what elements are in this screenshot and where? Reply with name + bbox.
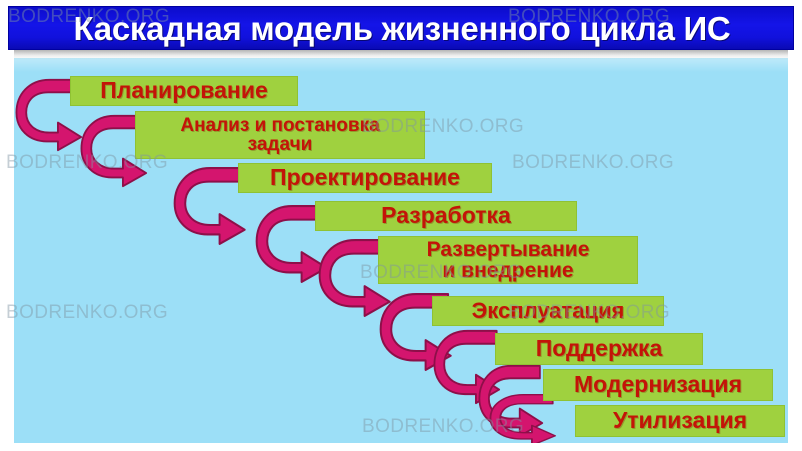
stage-box[interactable]: Разработка (315, 201, 577, 231)
stage-box[interactable]: Развертывание и внедрение (378, 236, 638, 284)
slide-canvas: Каскадная модель жизненного цикла ИС Пла… (0, 0, 802, 451)
stage-label: Развертывание и внедрение (427, 239, 590, 282)
stage-label: Модернизация (574, 373, 742, 396)
stage-label: Проектирование (270, 166, 460, 189)
stage-box[interactable]: Утилизация (575, 405, 785, 437)
stage-box[interactable]: Анализ и постановка задачи (135, 111, 425, 159)
stage-label: Анализ и постановка задачи (180, 116, 379, 155)
page-title: Каскадная модель жизненного цикла ИС (9, 7, 795, 51)
stage-label: Утилизация (613, 409, 747, 432)
stage-box[interactable]: Эксплуатация (432, 296, 664, 326)
title-bar-shadow (14, 50, 788, 60)
diagram-canvas: ПланированиеАнализ и постановка задачиПр… (14, 58, 788, 443)
stage-box[interactable]: Модернизация (543, 369, 773, 401)
stage-box[interactable]: Поддержка (495, 333, 703, 365)
stage-label: Планирование (100, 79, 268, 102)
stage-box[interactable]: Планирование (70, 76, 298, 106)
slide-title-bar: Каскадная модель жизненного цикла ИС (8, 6, 794, 50)
stage-label: Разработка (381, 204, 511, 227)
stage-label: Эксплуатация (472, 300, 625, 322)
stage-label: Поддержка (536, 337, 663, 360)
stage-box[interactable]: Проектирование (238, 163, 492, 193)
